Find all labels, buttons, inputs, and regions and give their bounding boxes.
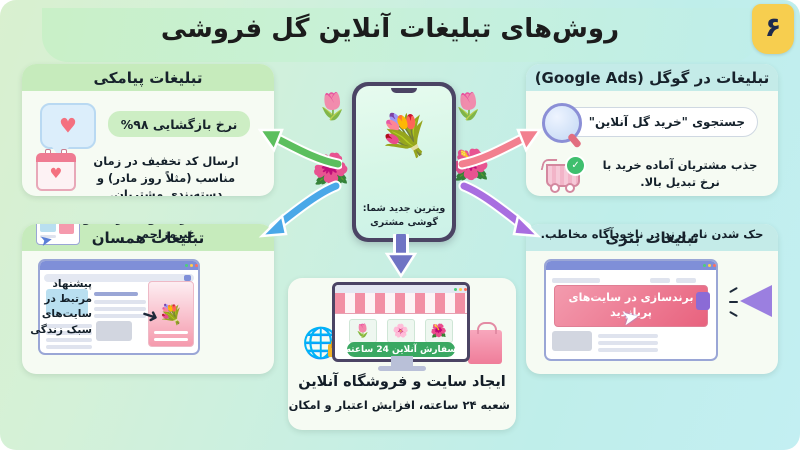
card-banner-description: حک شدن نام برند در ناخودآگاه مخاطب. xyxy=(540,226,764,243)
phone-screen: 💐 ویترین جدید شما: گوشی مشتری xyxy=(356,86,452,238)
infographic-canvas: روش‌های تبلیغات آنلاین گل فروشی ۶ تبلیغا… xyxy=(0,0,800,450)
logo-glyph-icon: ۶ xyxy=(752,4,794,54)
phone-caption: ویترین جدید شما: گوشی مشتری xyxy=(360,202,448,231)
card-native-advertising[interactable]: تبلیغات همسان 💐 xyxy=(22,224,274,374)
arrow-to-banner xyxy=(458,180,542,242)
monitor-base xyxy=(378,366,426,371)
logo-badge: ۶ xyxy=(752,4,794,54)
check-icon: ✓ xyxy=(565,155,586,176)
sms-open-rate-badge: نرخ بازگشایی ۹۸% xyxy=(108,111,250,137)
arrow-to-site xyxy=(384,234,418,280)
shop-item: 🌷 xyxy=(349,319,377,343)
card-native-description: دیده‌شدن در محتوای مرتبط و غیرمزاحم. xyxy=(68,224,264,243)
search-input-value: جستجوی "خرید گل آنلاین" xyxy=(576,115,757,129)
monitor-mockup: 🌷 🌸 🌺 سفارش آنلاین 24 ساعته xyxy=(332,282,470,362)
phone-notch xyxy=(391,88,417,93)
card-google-description: جذب مشتریان آماده خرید با نرخ تبدیل بالا… xyxy=(596,157,764,190)
browser-titlebar xyxy=(546,261,716,270)
smartphone-mockup: 💐 ویترین جدید شما: گوشی مشتری xyxy=(352,82,456,242)
shop-item: 🌺 xyxy=(425,319,453,343)
footer-block xyxy=(552,331,592,351)
content-text-lines xyxy=(94,297,146,321)
speech-bubble-icon: ♥ xyxy=(40,103,96,149)
card-sms-description: ارسال کد تخفیف در زمان مناسب (مثلاً روز … xyxy=(72,153,260,196)
flower-decoration-icon: 🌷 xyxy=(452,92,484,122)
magnifier-icon xyxy=(542,103,582,143)
card-native-note: پیشنهاد مرتبط در سایت‌های سبک زندگی xyxy=(28,277,92,338)
heart-icon: ♥ xyxy=(59,116,77,136)
online-order-badge: سفارش آنلاین 24 ساعته xyxy=(347,342,455,357)
shop-item: 🌸 xyxy=(387,319,415,343)
bouquet-icon: 💐 xyxy=(379,112,429,159)
card-sms-header: تبلیغات پیامکی xyxy=(22,64,274,91)
page-title: روش‌های تبلیغات آنلاین گل فروشی xyxy=(70,14,710,44)
content-heading-line xyxy=(94,292,138,296)
arrow-to-sms xyxy=(258,124,342,170)
monitor-stand xyxy=(391,356,413,366)
bouquet-icon: 💐 xyxy=(159,303,183,326)
browser-titlebar xyxy=(40,261,198,270)
monitor-titlebar xyxy=(335,285,467,293)
arrow-to-native xyxy=(258,180,342,242)
nav-line-3 xyxy=(676,278,696,283)
calendar-heart-icon: ♥ xyxy=(36,153,76,191)
megaphone-icon xyxy=(740,285,772,317)
footer-lines xyxy=(598,331,658,355)
card-website-shop[interactable]: 🌐 🌷 🌸 🌺 سفارش آنلاین 24 ساعته ایجاد سایت… xyxy=(288,278,516,430)
search-input[interactable]: جستجوی "خرید گل آنلاین" ⌕ xyxy=(556,107,758,137)
nav-line-1 xyxy=(552,278,600,283)
card-site-subtitle: شعبه ۲۴ ساعته، افزایش اعتبار و امکان سئو… xyxy=(294,398,510,412)
shopping-bag-icon xyxy=(468,330,502,364)
card-banner-advertising[interactable]: تبلیغات بنری برندسازی در سایت‌های پربازد… xyxy=(526,224,778,374)
shopping-cart-icon: ✓ xyxy=(542,155,584,193)
card-sms-advertising[interactable]: تبلیغات پیامکی ♥ نرخ بازگشایی ۹۸% ♥ ارسا… xyxy=(22,64,274,196)
flower-decoration-icon: 🌷 xyxy=(316,92,348,122)
cursor-icon: ➤ xyxy=(620,304,641,331)
card-site-title: ایجاد سایت و فروشگاه آنلاین xyxy=(294,374,510,390)
card-google-header: تبلیغات در گوگل (Google Ads) xyxy=(526,64,778,91)
content-gray-block xyxy=(96,321,132,341)
arrow-to-google xyxy=(458,124,542,170)
shop-awning xyxy=(335,293,467,314)
nav-line-2 xyxy=(650,278,670,283)
card-google-ads[interactable]: تبلیغات در گوگل (Google Ads) جستجوی "خری… xyxy=(526,64,778,196)
